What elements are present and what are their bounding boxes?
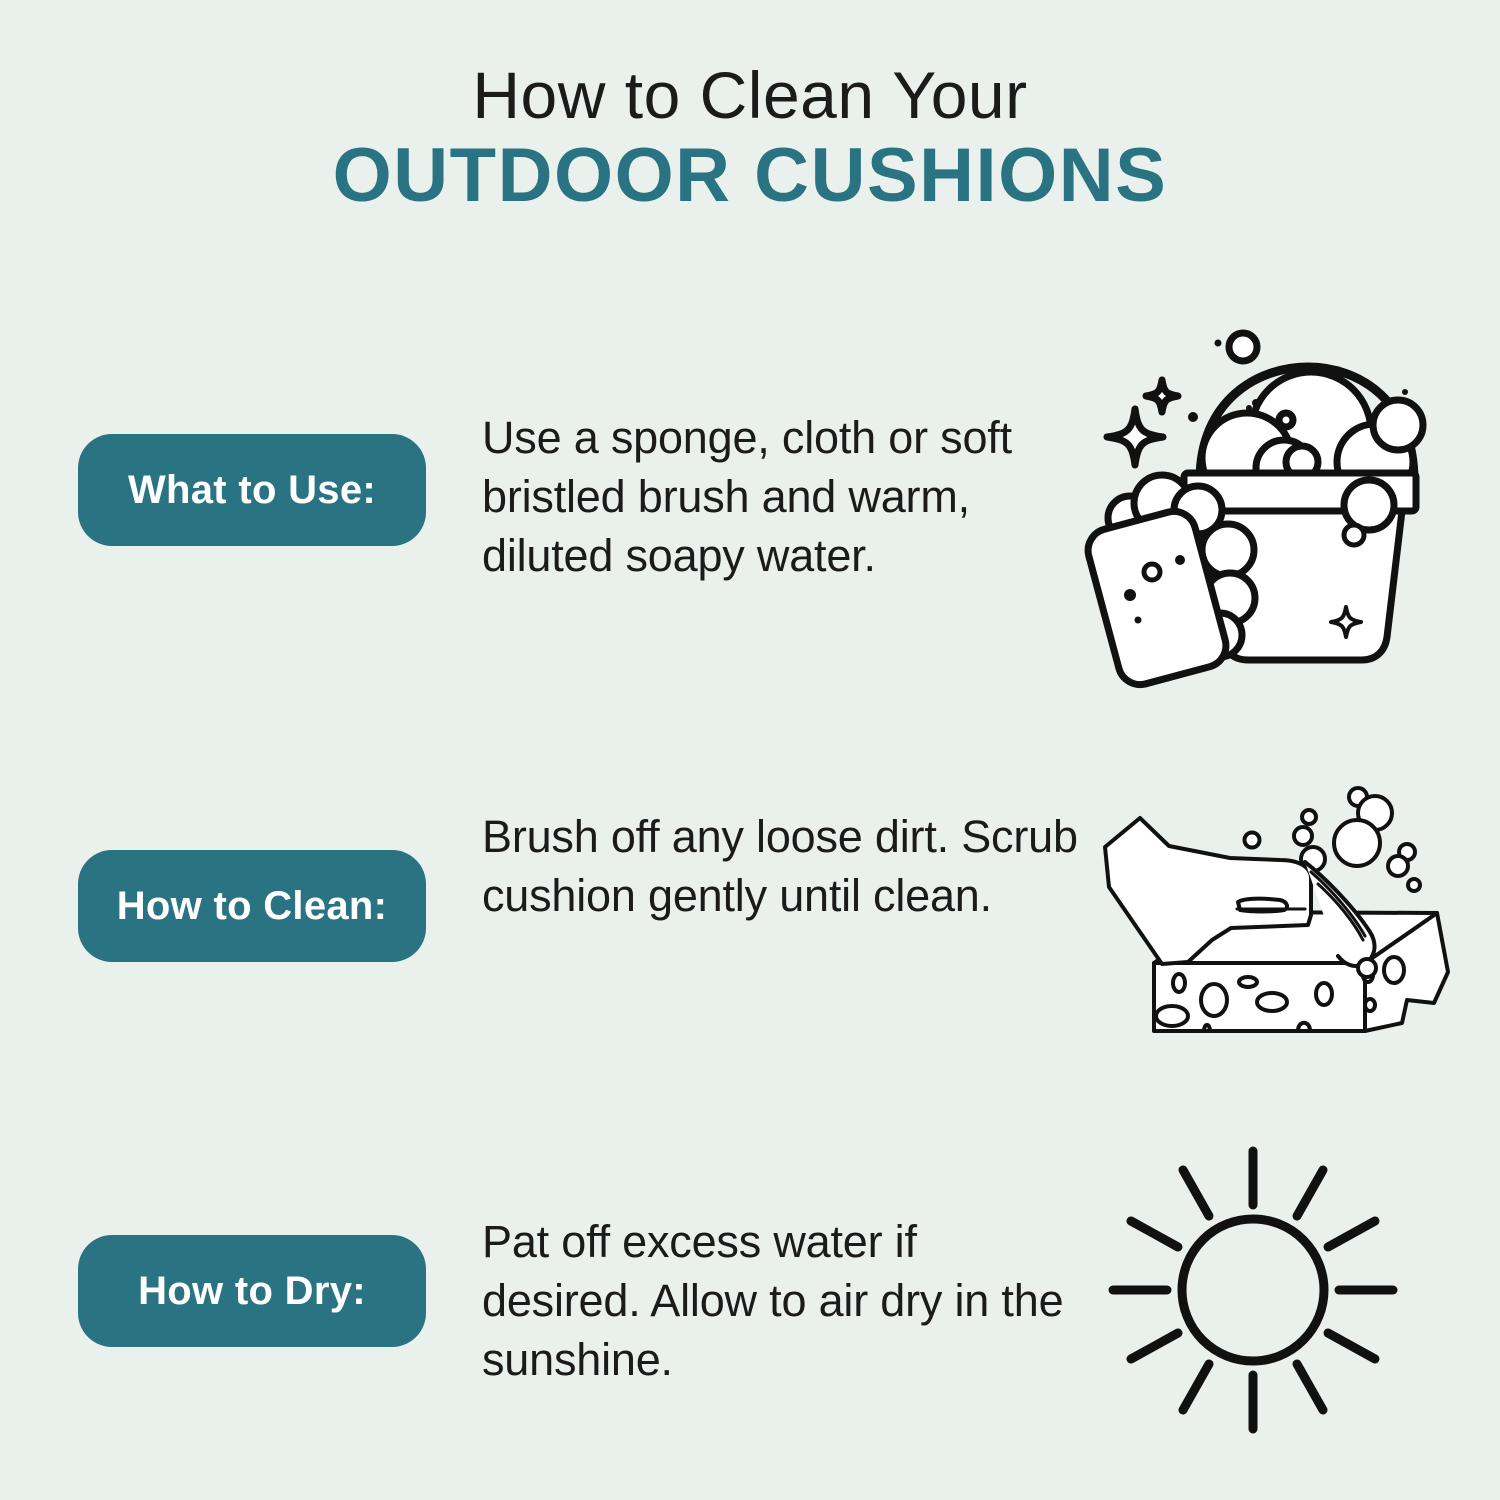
- page-title-line2: OUTDOOR CUSHIONS: [0, 135, 1500, 217]
- step-text-what-to-use: Use a sponge, cloth or soft bristled bru…: [482, 408, 1082, 585]
- infographic-page: How to Clean Your OUTDOOR CUSHIONS What …: [0, 0, 1500, 1500]
- step-row-what-to-use: What to Use: Use a sponge, cloth or soft…: [0, 330, 1500, 630]
- step-text-how-to-dry: Pat off excess water if desired. Allow t…: [482, 1212, 1082, 1389]
- step-label-how-to-clean: How to Clean:: [78, 850, 426, 962]
- step-label-what-to-use: What to Use:: [78, 434, 426, 546]
- step-row-how-to-clean: How to Clean: Brush off any loose dirt. …: [0, 760, 1500, 1060]
- sun-icon: [1075, 1120, 1500, 1460]
- page-header: How to Clean Your OUTDOOR CUSHIONS: [0, 62, 1500, 217]
- page-title-line1: How to Clean Your: [0, 62, 1500, 129]
- step-text-how-to-clean: Brush off any loose dirt. Scrub cushion …: [482, 807, 1082, 925]
- hand-scrubbing-sponge-icon: [1062, 780, 1500, 1070]
- step-label-how-to-dry: How to Dry:: [78, 1235, 426, 1347]
- step-row-how-to-dry: How to Dry: Pat off excess water if desi…: [0, 1130, 1500, 1430]
- bucket-with-suds-and-sponge-icon: [1080, 310, 1500, 710]
